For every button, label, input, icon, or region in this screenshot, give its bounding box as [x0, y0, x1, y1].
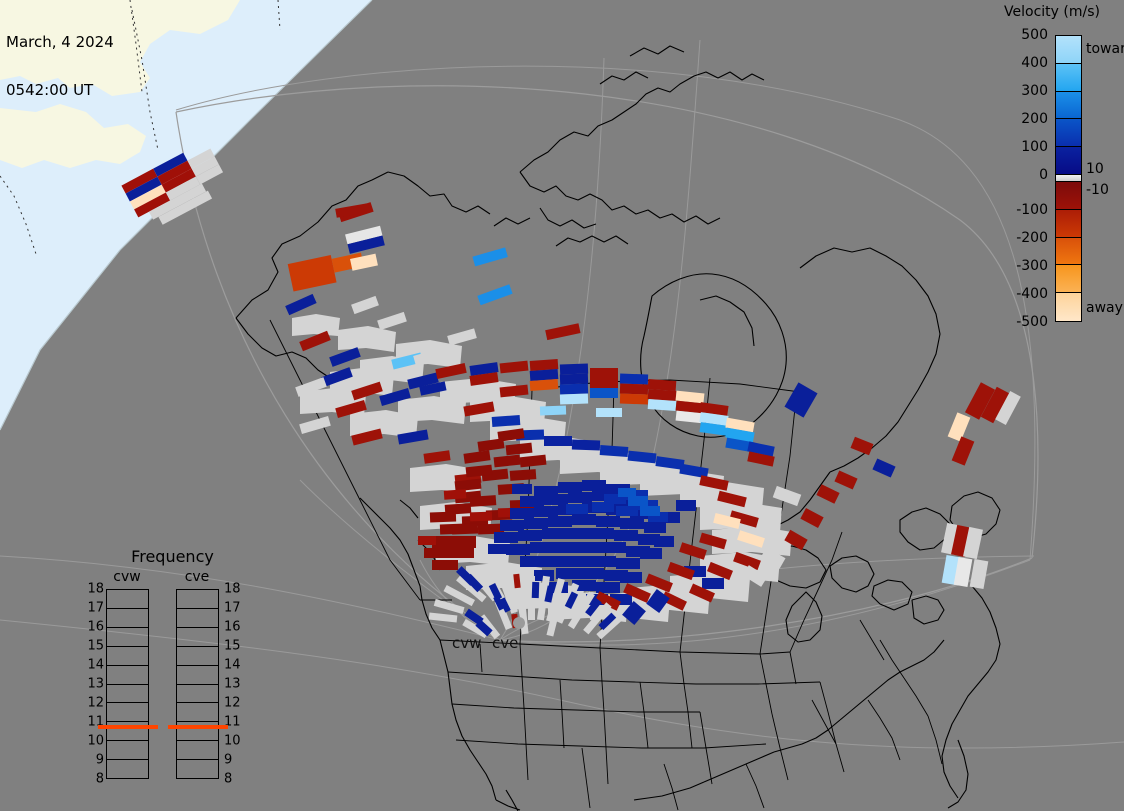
frequency-tick-label: 12: [224, 696, 248, 711]
velocity-tick-label: 300: [990, 83, 1048, 99]
velocity-band: [1056, 147, 1081, 175]
velocity-colorbar-side-labels: toward10-10away: [1086, 0, 1124, 330]
frequency-bar-cve[interactable]: [176, 589, 219, 779]
radar-fan-plot-canvas: cvw cve March, 4 2024 0542:00 UT Velocit…: [0, 0, 1124, 811]
frequency-tick-label: 16: [80, 620, 104, 635]
frequency-cell: [177, 685, 218, 704]
frequency-tick-label: 14: [224, 658, 248, 673]
velocity-plus-ten-label: 10: [1086, 161, 1104, 177]
frequency-scale-left: 18171615141312111098: [80, 589, 104, 779]
velocity-tick-label: 200: [990, 111, 1048, 127]
velocity-band: [1056, 182, 1081, 210]
frequency-cell: [177, 741, 218, 760]
frequency-cell: [107, 703, 148, 722]
frequency-scale-right: 18171615141312111098: [224, 589, 248, 779]
velocity-band: [1056, 265, 1081, 293]
velocity-away-label: away: [1086, 300, 1123, 316]
velocity-tick-label: -300: [990, 258, 1048, 274]
velocity-band: [1056, 92, 1081, 120]
frequency-column-label-cve: cve: [172, 569, 222, 585]
frequency-cell: [107, 741, 148, 760]
frequency-tick-label: 13: [224, 677, 248, 692]
timestamp-label: March, 4 2024 0542:00 UT: [6, 2, 114, 130]
velocity-tick-label: -500: [990, 314, 1048, 330]
radar-site-label-cve: cve: [492, 634, 518, 652]
frequency-tick-label: 18: [224, 582, 248, 597]
velocity-toward-label: toward: [1086, 41, 1124, 57]
frequency-cell: [107, 760, 148, 778]
radar-site-marker: [513, 617, 525, 629]
frequency-tick-label: 12: [80, 696, 104, 711]
velocity-band: [1056, 293, 1081, 321]
frequency-cell: [107, 590, 148, 609]
frequency-cell: [177, 760, 218, 778]
frequency-tick-label: 18: [80, 582, 104, 597]
velocity-colorbar-ticks: 5004003002001000-100-200-300-400-500: [988, 0, 1048, 330]
frequency-legend-panel: Frequency cvw cve 18171615141312111098 1…: [80, 545, 265, 790]
frequency-tick-label: 15: [224, 639, 248, 654]
frequency-tick-label: 17: [80, 601, 104, 616]
frequency-tick-label: 9: [224, 753, 248, 768]
frequency-tick-label: 14: [80, 658, 104, 673]
frequency-tick-label: 16: [224, 620, 248, 635]
frequency-tick-label: 10: [224, 734, 248, 749]
frequency-tick-label: 17: [224, 601, 248, 616]
frequency-tick-label: 8: [80, 772, 104, 787]
velocity-tick-label: 100: [990, 139, 1048, 155]
frequency-bar-cvw[interactable]: [106, 589, 149, 779]
frequency-cell: [107, 609, 148, 628]
frequency-cell: [177, 703, 218, 722]
frequency-cell: [177, 590, 218, 609]
velocity-band: [1056, 210, 1081, 238]
velocity-tick-label: 0: [990, 167, 1048, 183]
velocity-band: [1056, 36, 1081, 64]
velocity-colorbar-panel: Velocity (m/s) 5004003002001000-100-200-…: [980, 0, 1124, 330]
velocity-band: [1056, 175, 1081, 182]
frequency-marker-cve: [168, 725, 228, 729]
frequency-column-label-cvw: cvw: [102, 569, 152, 585]
frequency-tick-label: 8: [224, 772, 248, 787]
frequency-cell: [177, 666, 218, 685]
frequency-cell: [107, 685, 148, 704]
frequency-marker-cvw: [98, 725, 158, 729]
velocity-colorbar: [1055, 35, 1082, 322]
frequency-cell: [177, 647, 218, 666]
velocity-band: [1056, 238, 1081, 266]
frequency-cell: [177, 628, 218, 647]
velocity-band: [1056, 64, 1081, 92]
frequency-legend-title: Frequency: [80, 547, 265, 566]
velocity-tick-label: -200: [990, 230, 1048, 246]
velocity-band: [1056, 119, 1081, 147]
radar-site-label-cvw: cvw: [452, 634, 481, 652]
velocity-tick-label: -100: [990, 202, 1048, 218]
frequency-tick-label: 9: [80, 753, 104, 768]
velocity-minus-ten-label: -10: [1086, 182, 1109, 198]
frequency-tick-label: 10: [80, 734, 104, 749]
timestamp-time: 0542:00 UT: [6, 82, 114, 98]
velocity-tick-label: -400: [990, 286, 1048, 302]
frequency-cell: [107, 628, 148, 647]
frequency-cell: [107, 647, 148, 666]
frequency-tick-label: 13: [80, 677, 104, 692]
timestamp-date: March, 4 2024: [6, 34, 114, 50]
frequency-cell: [107, 666, 148, 685]
frequency-tick-label: 15: [80, 639, 104, 654]
frequency-cell: [177, 609, 218, 628]
velocity-tick-label: 500: [990, 27, 1048, 43]
velocity-tick-label: 400: [990, 55, 1048, 71]
